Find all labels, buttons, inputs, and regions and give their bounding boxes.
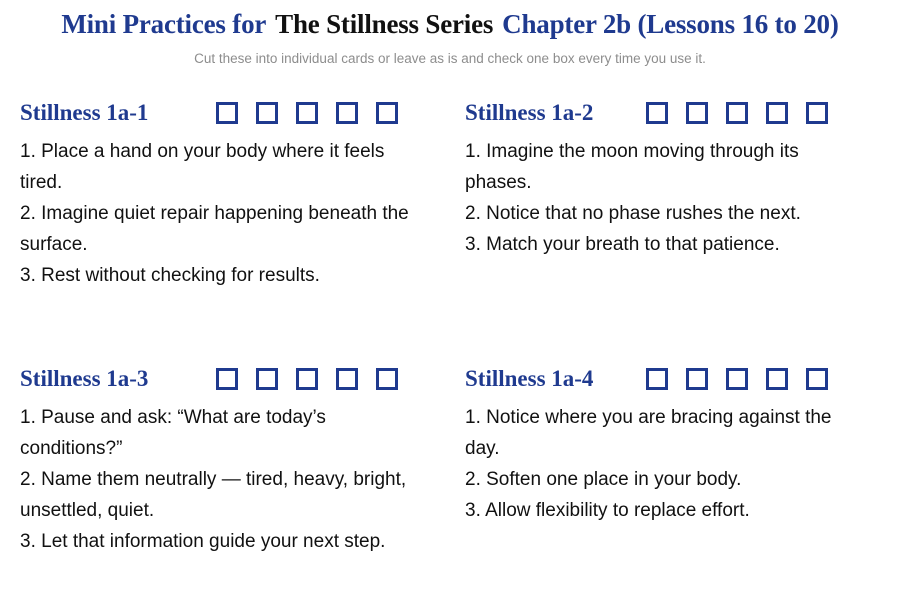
card-title: Stillness 1a-4 [465,366,593,392]
checkbox-1[interactable] [646,368,668,390]
card-title: Stillness 1a-1 [20,100,148,126]
practice-step: 3. Let that information guide your next … [20,526,420,557]
card-body: 1. Notice where you are bracing against … [465,402,865,526]
practice-step: 1. Notice where you are bracing against … [465,402,865,464]
title-segment-prefix: Mini Practices for [61,9,266,39]
card-header: Stillness 1a-4 [465,362,882,396]
practice-card-3: Stillness 1a-3 1. Pause and ask: “What a… [20,362,465,557]
practice-step: 2. Soften one place in your body. [465,464,865,495]
page-subtitle: Cut these into individual cards or leave… [0,50,900,68]
checkbox-group [216,368,398,390]
card-grid: Stillness 1a-1 1. Place a hand on your b… [20,96,882,557]
practice-card-2: Stillness 1a-2 1. Imagine the moon movin… [465,96,882,362]
practice-step: 2. Notice that no phase rushes the next. [465,198,865,229]
practice-step: 1. Place a hand on your body where it fe… [20,136,420,198]
card-header: Stillness 1a-2 [465,96,882,130]
checkbox-5[interactable] [376,102,398,124]
title-segment-series: The Stillness Series [275,9,493,39]
checkbox-2[interactable] [686,368,708,390]
card-body: 1. Pause and ask: “What are today’s cond… [20,402,420,557]
practice-step: 2. Name them neutrally — tired, heavy, b… [20,464,420,526]
practice-card-1: Stillness 1a-1 1. Place a hand on your b… [20,96,465,362]
checkbox-3[interactable] [296,102,318,124]
checkbox-4[interactable] [766,368,788,390]
checkbox-1[interactable] [646,102,668,124]
checkbox-2[interactable] [256,102,278,124]
checkbox-4[interactable] [766,102,788,124]
page-header: Mini Practices forThe Stillness SeriesCh… [0,0,900,68]
checkbox-5[interactable] [806,368,828,390]
checkbox-5[interactable] [806,102,828,124]
checkbox-1[interactable] [216,368,238,390]
card-header: Stillness 1a-1 [20,96,465,130]
practice-step: 2. Imagine quiet repair happening beneat… [20,198,420,260]
card-body: 1. Place a hand on your body where it fe… [20,136,420,291]
checkbox-group [216,102,398,124]
checkbox-1[interactable] [216,102,238,124]
practice-step: 3. Allow flexibility to replace effort. [465,495,865,526]
practice-step: 1. Imagine the moon moving through its p… [465,136,865,198]
practice-step: 3. Rest without checking for results. [20,260,420,291]
checkbox-3[interactable] [726,102,748,124]
checkbox-group [646,368,828,390]
checkbox-3[interactable] [726,368,748,390]
card-title: Stillness 1a-2 [465,100,593,126]
checkbox-2[interactable] [256,368,278,390]
checkbox-4[interactable] [336,102,358,124]
checkbox-5[interactable] [376,368,398,390]
card-header: Stillness 1a-3 [20,362,465,396]
title-segment-chapter: Chapter 2b (Lessons 16 to 20) [502,9,838,39]
page-title: Mini Practices forThe Stillness SeriesCh… [0,8,900,40]
card-body: 1. Imagine the moon moving through its p… [465,136,865,260]
checkbox-3[interactable] [296,368,318,390]
checkbox-4[interactable] [336,368,358,390]
card-title: Stillness 1a-3 [20,366,148,392]
practice-card-4: Stillness 1a-4 1. Notice where you are b… [465,362,882,557]
practice-step: 3. Match your breath to that patience. [465,229,865,260]
checkbox-group [646,102,828,124]
practice-step: 1. Pause and ask: “What are today’s cond… [20,402,420,464]
checkbox-2[interactable] [686,102,708,124]
worksheet-page: Mini Practices forThe Stillness SeriesCh… [0,0,900,593]
